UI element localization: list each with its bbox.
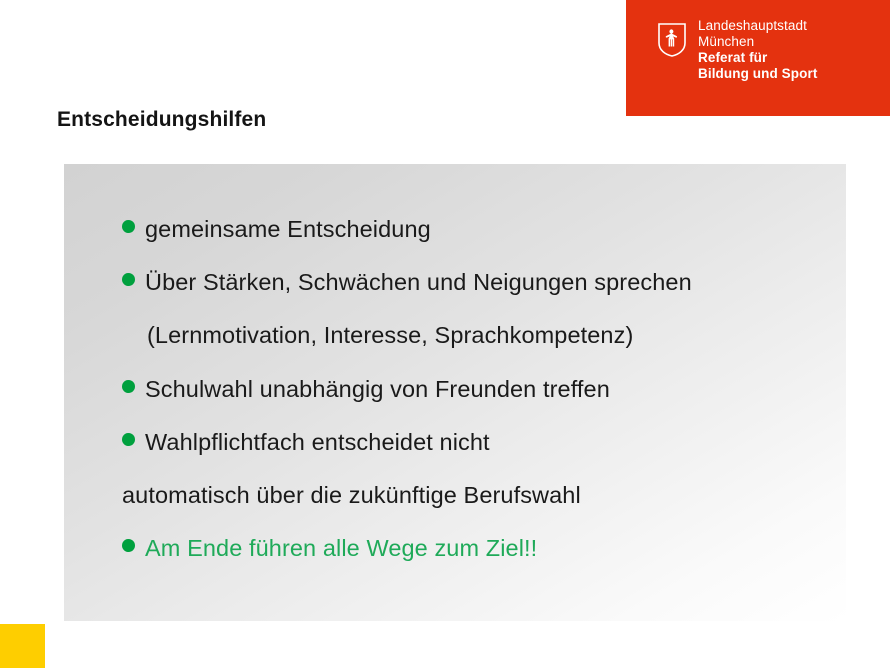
list-item-label: Schulwahl unabhängig von Freunden treffe… bbox=[145, 376, 610, 403]
corner-accent-block bbox=[0, 624, 45, 668]
bullet-dot-icon bbox=[122, 539, 135, 552]
brand-line-bildung-und-sport: Bildung und Sport bbox=[698, 66, 817, 82]
bullet-dot-icon bbox=[122, 273, 135, 286]
list-item: gemeinsame Entscheidung bbox=[122, 216, 431, 243]
list-item: Schulwahl unabhängig von Freunden treffe… bbox=[122, 376, 610, 403]
list-item: Über Stärken, Schwächen und Neigungen sp… bbox=[122, 269, 692, 296]
list-item: Wahlpflichtfach entscheidet nicht bbox=[122, 429, 490, 456]
brand-line-muenchen: München bbox=[698, 34, 817, 50]
brand-line-landeshauptstadt: Landeshauptstadt bbox=[698, 18, 817, 34]
list-item-label: Über Stärken, Schwächen und Neigungen sp… bbox=[145, 269, 692, 296]
content-panel: gemeinsame Entscheidung Über Stärken, Sc… bbox=[64, 164, 846, 621]
bullet-dot-icon bbox=[122, 433, 135, 446]
presentation-slide: Landeshauptstadt München Referat für Bil… bbox=[0, 0, 890, 668]
list-item-continuation: automatisch über die zukünftige Berufswa… bbox=[122, 482, 581, 509]
list-item-label: automatisch über die zukünftige Berufswa… bbox=[122, 482, 581, 509]
page-title: Entscheidungshilfen bbox=[57, 108, 266, 132]
brand-text-block: Landeshauptstadt München Referat für Bil… bbox=[698, 18, 817, 82]
list-item-label: gemeinsame Entscheidung bbox=[145, 216, 431, 243]
brand-line-referat: Referat für bbox=[698, 50, 817, 66]
list-item-label: Am Ende führen alle Wege zum Ziel!! bbox=[145, 535, 537, 562]
bullet-dot-icon bbox=[122, 380, 135, 393]
munich-coat-of-arms-icon bbox=[658, 23, 686, 57]
list-item-label: Wahlpflichtfach entscheidet nicht bbox=[145, 429, 490, 456]
brand-banner: Landeshauptstadt München Referat für Bil… bbox=[626, 0, 890, 116]
list-item-continuation: (Lernmotivation, Interesse, Sprachkompet… bbox=[147, 322, 633, 349]
list-item-highlight: Am Ende führen alle Wege zum Ziel!! bbox=[122, 535, 537, 562]
list-item-label: (Lernmotivation, Interesse, Sprachkompet… bbox=[147, 322, 633, 349]
bullet-dot-icon bbox=[122, 220, 135, 233]
